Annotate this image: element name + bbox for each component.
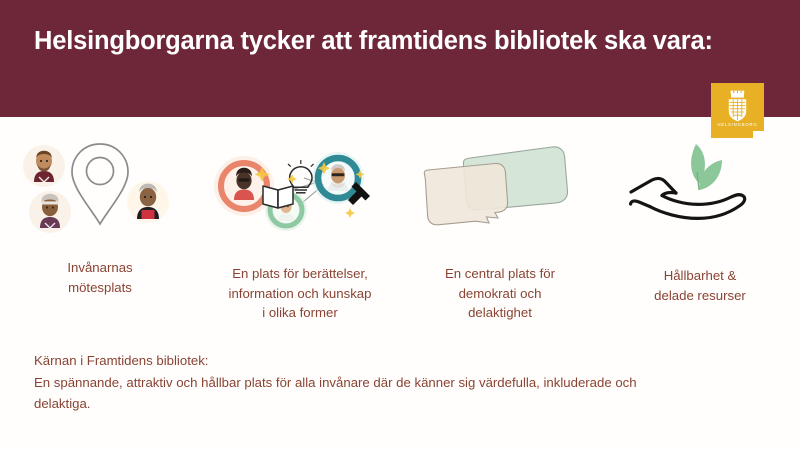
card-label: Invånarnas mötesplats	[8, 258, 192, 297]
card-invanarnas-motesplats: Invånarnas mötesplats	[0, 130, 200, 330]
card-hallbarhet-delade-resurser: Hållbarhet & delade resurser	[600, 130, 800, 330]
page-title: Helsingborgarna tycker att framtidens bi…	[34, 26, 734, 56]
card-label-line: En plats för berättelser,	[208, 264, 392, 284]
card-label-line: demokrati och	[408, 284, 592, 304]
logo-wordmark: HELSINGBORG	[711, 122, 764, 127]
footnote-line: delaktiga.	[34, 393, 764, 415]
people-location-pin-icon	[0, 130, 200, 242]
footnote-line: Kärnan i Framtidens bibliotek:	[34, 350, 764, 372]
card-label: En central plats för demokrati och delak…	[408, 264, 592, 323]
card-label-line: mötesplats	[8, 278, 192, 298]
card-label-line: delaktighet	[408, 303, 592, 323]
speech-bubbles-icon	[400, 130, 600, 242]
card-label-line: En central plats för	[408, 264, 592, 284]
card-central-plats-demokrati: En central plats för demokrati och delak…	[400, 130, 600, 330]
card-label-line: Invånarnas	[8, 258, 192, 278]
knowledge-network-icon	[200, 130, 400, 242]
hand-with-leaves-icon	[600, 130, 800, 242]
card-plats-for-berattelser: En plats för berättelser, information oc…	[200, 130, 400, 330]
footnote-text: Kärnan i Framtidens bibliotek: En spänna…	[34, 350, 764, 415]
card-label-line: delade resurser	[608, 286, 792, 306]
card-label-line: i olika former	[208, 303, 392, 323]
footnote-line: En spännande, attraktiv och hållbar plat…	[34, 372, 764, 394]
card-label-line: information och kunskap	[208, 284, 392, 304]
concept-cards: Invånarnas mötesplats	[0, 130, 800, 330]
card-label: Hållbarhet & delade resurser	[608, 266, 792, 305]
header-band	[0, 0, 800, 117]
castle-crest-icon	[711, 86, 764, 126]
card-label-line: Hållbarhet &	[608, 266, 792, 286]
card-label: En plats för berättelser, information oc…	[208, 264, 392, 323]
